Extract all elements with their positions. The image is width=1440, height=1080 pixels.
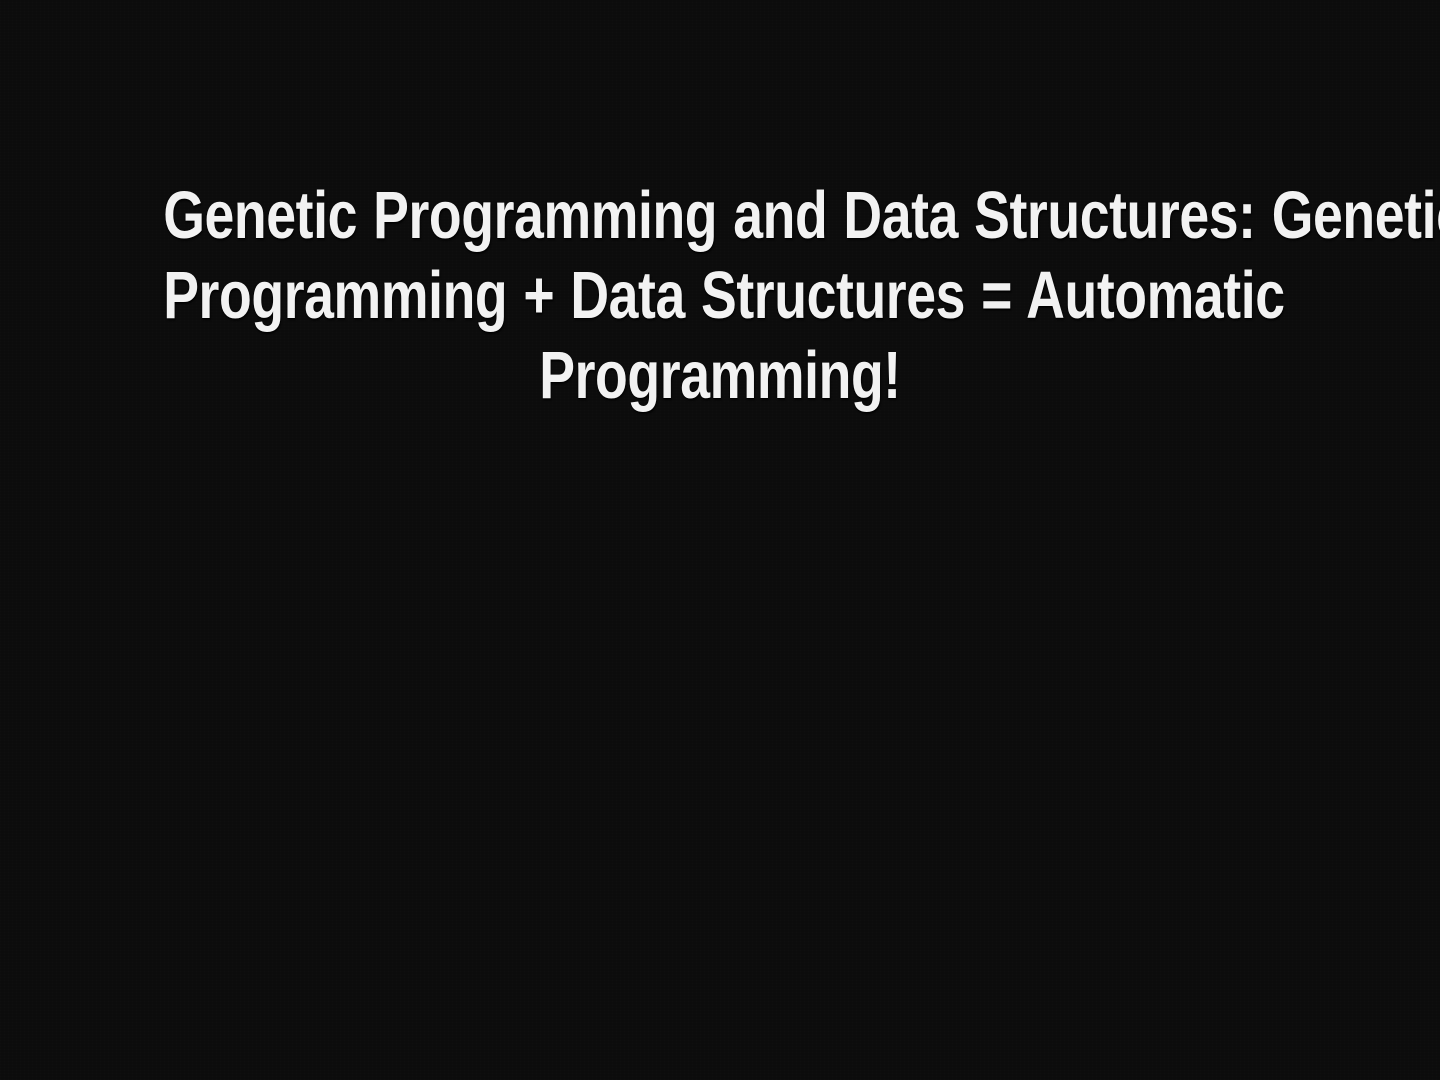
cover-canvas: Genetic Programming and Data Structures:… [0, 0, 1440, 1080]
title-line-2: Programming + Data Structures = Automati… [163, 256, 1277, 336]
title-line-3: Programming! [163, 336, 1277, 416]
title-line-1: Genetic Programming and Data Structures:… [163, 176, 1277, 256]
cover-title-block: Genetic Programming and Data Structures:… [0, 176, 1440, 416]
background-noise-texture [0, 0, 1440, 1080]
